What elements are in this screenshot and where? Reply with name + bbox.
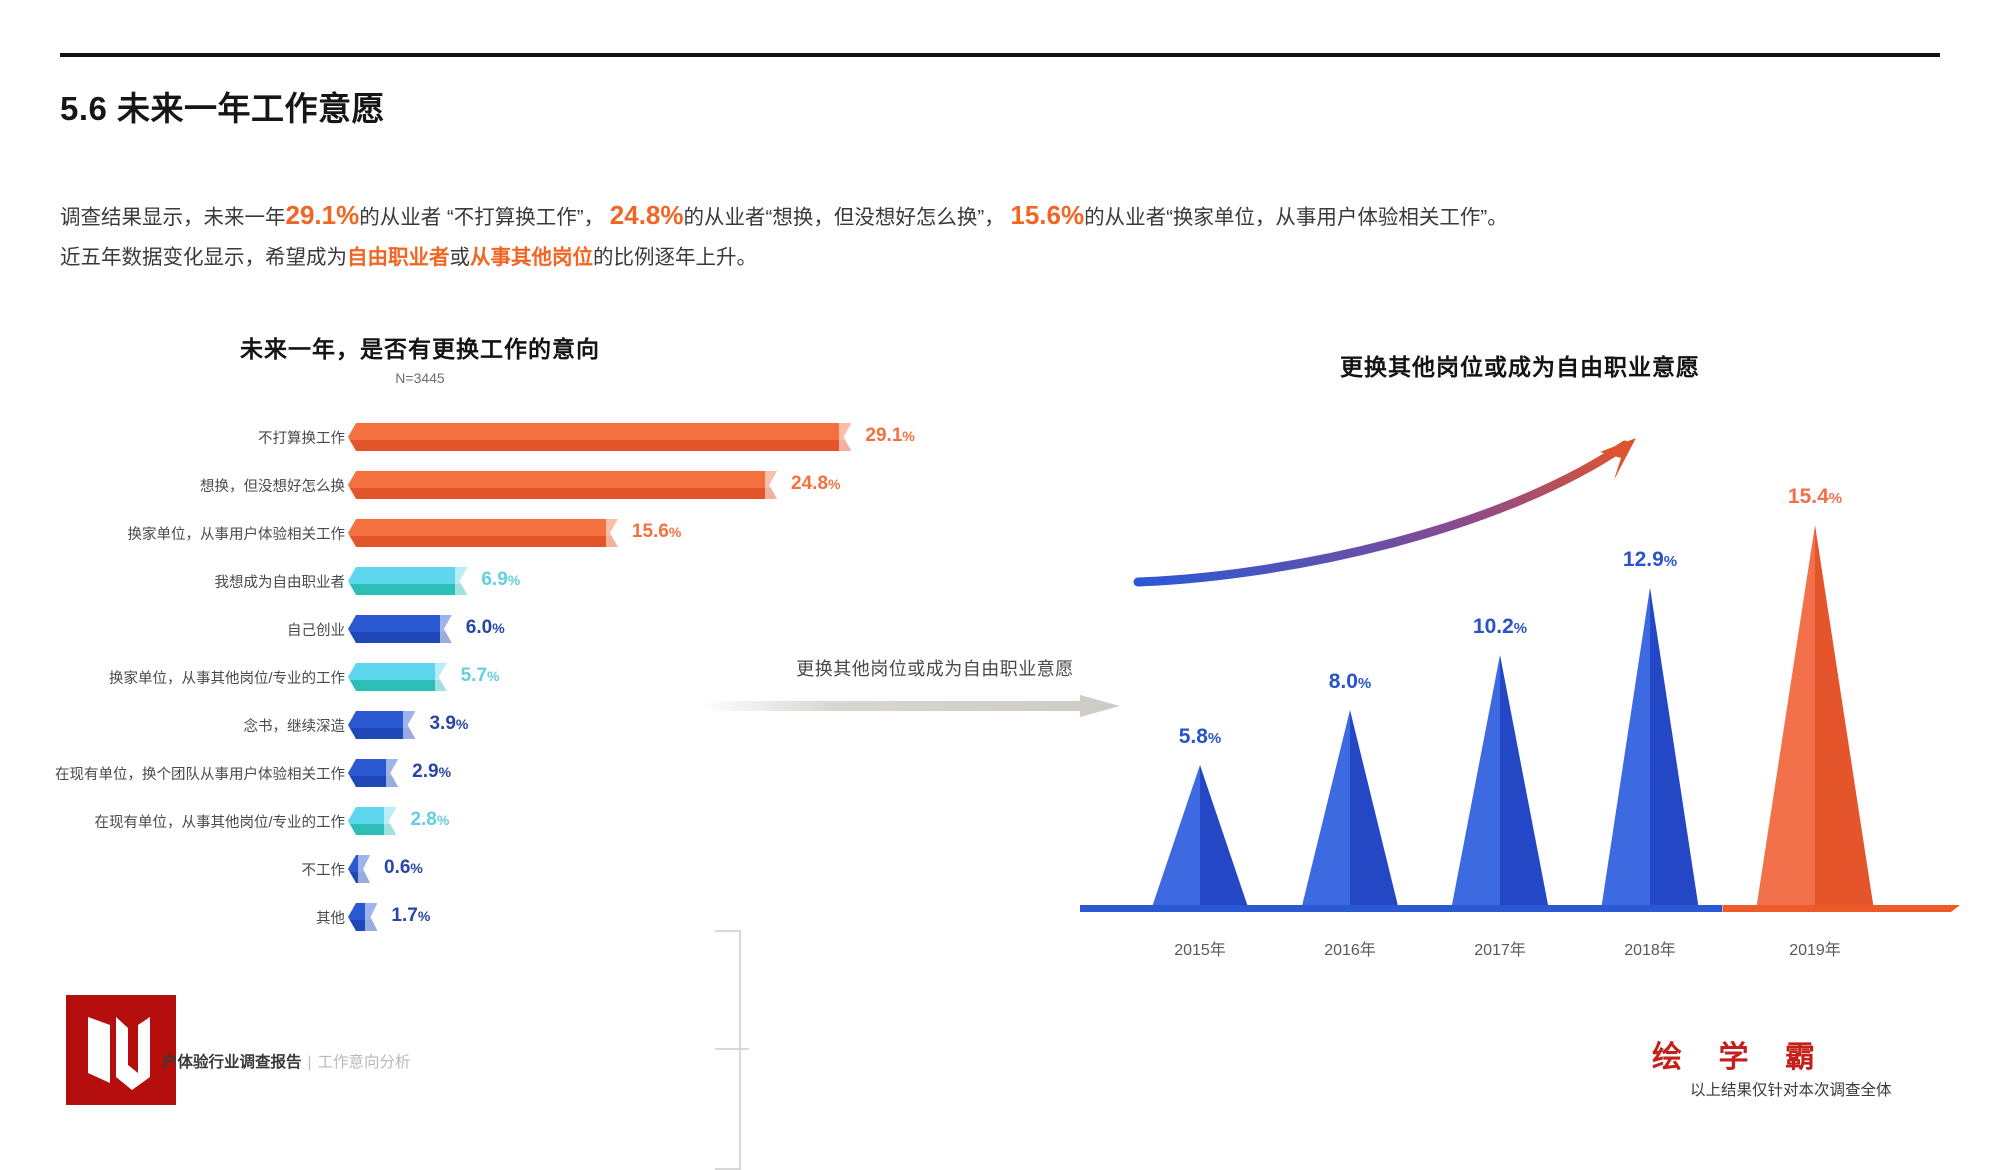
group-bracket-stub — [715, 1048, 749, 1050]
cone-value-label: 8.0% — [1302, 670, 1398, 694]
bar-fill — [348, 423, 851, 451]
cone-face-left — [1151, 765, 1200, 910]
bar-value-label: 6.0% — [466, 617, 505, 639]
bar-value-label: 24.8% — [791, 473, 840, 495]
bar-fill — [348, 807, 396, 835]
bar-fill — [348, 567, 467, 595]
footer-section-name: 工作意向分析 — [318, 1054, 411, 1071]
intro-text-1d: 的从业者“换家单位，从事用户体验相关工作”。 — [1084, 206, 1508, 229]
cone-bar — [1151, 765, 1249, 910]
bar-face-bottom — [348, 536, 618, 547]
intro-paragraph: 调查结果显示，未来一年29.1%的从业者 “不打算换工作”， 24.8%的从业者… — [60, 195, 1940, 278]
bar-tip-highlight — [455, 567, 467, 595]
intro-text-1a: 调查结果显示，未来一年 — [60, 206, 286, 229]
cone-value-label: 15.4% — [1767, 485, 1863, 509]
bar-track — [348, 852, 370, 886]
bar-category-label: 我想成为自由职业者 — [0, 571, 345, 592]
right-chart: 更换其他岗位或成为自由职业意愿 5.8%8.0%10.2%12.9%15.4% … — [1080, 330, 1960, 990]
bar-tip-highlight — [386, 759, 398, 787]
bar-category-label: 换家单位，从事用户体验相关工作 — [0, 523, 345, 544]
bar-value-label: 6.9% — [481, 569, 520, 591]
cone-bar — [1601, 588, 1699, 911]
bar-face-top — [348, 423, 851, 440]
bar-value-label: 2.8% — [410, 809, 449, 831]
bar-tip-highlight — [403, 711, 415, 739]
intro-highlight-freelancer: 自由职业者 — [347, 246, 450, 269]
intro-stat-24: 24.8% — [610, 200, 684, 230]
intro-text-1b: 的从业者 “不打算换工作”， — [359, 206, 610, 229]
brand-logo — [66, 995, 176, 1105]
bar-value-label: 15.6% — [632, 521, 681, 543]
bar-fill — [348, 519, 618, 547]
bar-face-bottom — [348, 488, 777, 499]
bar-row: 不打算换工作29.1% — [70, 420, 910, 454]
x-axis-label: 2017年 — [1430, 936, 1570, 960]
bar-category-label: 不打算换工作 — [0, 427, 345, 448]
bar-track — [348, 756, 398, 790]
cone-face-right — [1200, 765, 1249, 910]
bar-fill — [348, 855, 370, 883]
right-chart-title: 更换其他岗位或成为自由职业意愿 — [1080, 348, 1960, 382]
bar-track — [348, 564, 467, 598]
left-chart-sample-size: N=3445 — [70, 370, 770, 386]
bar-value-label: 1.7% — [391, 905, 430, 927]
header-rule — [60, 53, 1940, 57]
bar-face-top — [348, 615, 452, 632]
intro-text-2b: 或 — [450, 246, 471, 269]
cone-bar — [1451, 655, 1549, 910]
bar-fill — [348, 471, 777, 499]
baseline-strip — [1080, 905, 1960, 912]
cone-face-left — [1756, 525, 1815, 910]
bar-track — [348, 516, 618, 550]
bar-tip-highlight — [440, 615, 452, 643]
bar-row: 不工作0.6% — [70, 852, 910, 886]
x-axis-label: 2018年 — [1580, 936, 1720, 960]
bar-tip-highlight — [839, 423, 851, 451]
bar-category-label: 其他 — [0, 907, 345, 928]
bar-track — [348, 660, 447, 694]
bar-track — [348, 612, 452, 646]
bar-row: 我想成为自由职业者6.9% — [70, 564, 910, 598]
cone-bar — [1756, 525, 1874, 910]
bar-fill — [348, 759, 398, 787]
bar-category-label: 自己创业 — [0, 619, 345, 640]
left-chart-title: 未来一年，是否有更换工作的意向 — [70, 330, 770, 364]
cone-face-left — [1601, 588, 1650, 911]
bar-face-bottom — [348, 584, 467, 595]
bar-tip-highlight — [384, 807, 396, 835]
baseline-orange — [1722, 905, 1960, 912]
cone-value-label: 12.9% — [1602, 548, 1698, 572]
intro-highlight-otherrole: 从事其他岗位 — [470, 246, 593, 269]
baseline-blue — [1080, 905, 1722, 912]
x-axis-label: 2015年 — [1130, 936, 1270, 960]
cone-plot-area: 5.8%8.0%10.2%12.9%15.4% 2015年2016年2017年2… — [1080, 400, 1960, 1000]
bar-tip-highlight — [358, 855, 370, 883]
bar-value-label: 5.7% — [461, 665, 500, 687]
intro-stat-15: 15.6% — [1010, 200, 1084, 230]
intro-line1: 调查结果显示，未来一年29.1%的从业者 “不打算换工作”， 24.8%的从业者… — [60, 206, 1508, 229]
arrow-shaft — [700, 701, 1085, 711]
bar-track — [348, 420, 851, 454]
cone-bar — [1301, 710, 1399, 910]
bar-track — [348, 804, 396, 838]
bar-category-label: 在现有单位，从事其他岗位/专业的工作 — [0, 811, 345, 832]
footer-caption: 户体验行业调查报告|工作意向分析 — [162, 1050, 411, 1072]
footnote: 以上结果仅针对本次调查全体 — [1690, 1078, 1892, 1100]
mid-arrow-icon — [700, 695, 1120, 717]
watermark: 绘 学 霸 — [1652, 1032, 1828, 1076]
cone-value-label: 5.8% — [1152, 725, 1248, 749]
x-axis-label: 2016年 — [1280, 936, 1420, 960]
group-bracket — [715, 930, 741, 1170]
logo-w-icon — [66, 995, 176, 1105]
bar-value-label: 29.1% — [865, 425, 914, 447]
bar-category-label: 不工作 — [0, 859, 345, 880]
bar-value-label: 3.9% — [429, 713, 468, 735]
bar-track — [348, 900, 377, 934]
bar-category-label: 在现有单位，换个团队从事用户体验相关工作 — [0, 763, 345, 784]
bar-row: 其他1.7% — [70, 900, 910, 934]
bar-fill — [348, 903, 377, 931]
bar-fill — [348, 615, 452, 643]
bar-tip-highlight — [435, 663, 447, 691]
bar-tip-highlight — [606, 519, 618, 547]
mid-arrow-label: 更换其他岗位或成为自由职业意愿 — [740, 655, 1130, 681]
cone-face-left — [1301, 710, 1350, 910]
bar-track — [348, 468, 777, 502]
bar-value-label: 0.6% — [384, 857, 423, 879]
bar-face-top — [348, 471, 777, 488]
cone-face-right — [1350, 710, 1399, 910]
page-title: 5.6 未来一年工作意愿 — [60, 82, 385, 130]
bar-row: 想换，但没想好怎么换24.8% — [70, 468, 910, 502]
intro-text-2c: 的比例逐年上升。 — [593, 246, 757, 269]
x-axis-label: 2019年 — [1745, 936, 1885, 960]
cone-face-right — [1815, 525, 1874, 910]
intro-text-1c: 的从业者“想换，但没想好怎么换”， — [684, 206, 1011, 229]
bar-category-label: 想换，但没想好怎么换 — [0, 475, 345, 496]
bar-face-top — [348, 567, 467, 584]
bar-category-label: 换家单位，从事其他岗位/专业的工作 — [0, 667, 345, 688]
bar-face-bottom — [348, 440, 851, 451]
bar-tip-highlight — [365, 903, 377, 931]
left-chart: 未来一年，是否有更换工作的意向 N=3445 不打算换工作29.1%想换，但没想… — [70, 330, 910, 970]
bar-row: 换家单位，从事用户体验相关工作15.6% — [70, 516, 910, 550]
bar-face-bottom — [348, 680, 447, 691]
intro-text-2a: 近五年数据变化显示，希望成为 — [60, 246, 347, 269]
cone-face-right — [1650, 588, 1699, 911]
bar-face-bottom — [348, 632, 452, 643]
bar-fill — [348, 663, 447, 691]
bar-track — [348, 708, 415, 742]
bar-value-label: 2.9% — [412, 761, 451, 783]
bar-face-top — [348, 519, 618, 536]
cone-face-right — [1500, 655, 1549, 910]
footer-separator: | — [308, 1054, 312, 1071]
intro-line2: 近五年数据变化显示，希望成为自由职业者或从事其他岗位的比例逐年上升。 — [60, 238, 1940, 278]
bar-tip-highlight — [765, 471, 777, 499]
bar-fill — [348, 711, 415, 739]
bar-category-label: 念书，继续深造 — [0, 715, 345, 736]
bar-row: 在现有单位，换个团队从事用户体验相关工作2.9% — [70, 756, 910, 790]
footer-report-name: 户体验行业调查报告 — [162, 1054, 302, 1071]
cone-value-label: 10.2% — [1452, 615, 1548, 639]
intro-stat-29: 29.1% — [286, 200, 360, 230]
cone-face-left — [1451, 655, 1500, 910]
bar-face-top — [348, 663, 447, 680]
bar-row: 自己创业6.0% — [70, 612, 910, 646]
bar-row: 在现有单位，从事其他岗位/专业的工作2.8% — [70, 804, 910, 838]
